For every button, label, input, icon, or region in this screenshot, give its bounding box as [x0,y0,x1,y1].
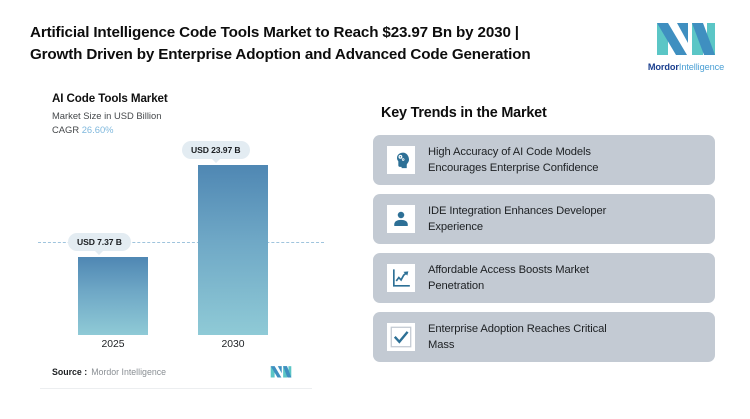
mi-monogram-icon [655,17,717,59]
bar-2030 [198,165,268,335]
trend-card-text: High Accuracy of AI Code Models Encourag… [428,144,598,177]
brand-name-bold: Mordor [648,62,679,72]
x-axis-tick-2025: 2025 [78,339,148,350]
cagr-label: CAGR [52,124,79,135]
trend-card-text: Enterprise Adoption Reaches Critical Mas… [428,321,607,354]
chart-cagr: CAGR 26.60% [52,124,330,135]
trend-text-line-1: High Accuracy of AI Code Models [428,146,591,158]
mordor-intelligence-logo: MordorIntelligence [640,17,732,72]
headline-line-2: Growth Driven by Enterprise Adoption and… [30,44,626,66]
headline-line-1: Artificial Intelligence Code Tools Marke… [30,24,519,41]
trend-card-text: IDE Integration Enhances Developer Exper… [428,203,606,236]
user-icon-svg [391,209,411,229]
trend-card-enterprise-adoption: Enterprise Adoption Reaches Critical Mas… [373,312,715,362]
key-trends-panel: Key Trends in the Market High Accuracy o… [373,105,715,371]
trend-card-ide-integration: IDE Integration Enhances Developer Exper… [373,194,715,244]
trend-card-text: Affordable Access Boosts Market Penetrat… [428,262,589,295]
line-chart-up-icon-svg [391,268,411,288]
panel-divider [40,388,312,389]
line-chart-up-icon [387,264,415,292]
chart-title: AI Code Tools Market [52,92,330,105]
chart-source: Source : Mordor Intelligence [30,364,320,379]
x-axis-tick-2030: 2030 [198,339,268,350]
head-gears-icon-svg [391,150,411,170]
key-trends-heading: Key Trends in the Market [381,105,715,121]
trend-text-line-2: Penetration [428,280,484,292]
trend-text-line-1: Affordable Access Boosts Market [428,264,589,276]
chart-plot-area: USD 7.37 B USD 23.97 B [30,150,330,335]
trend-text-line-1: Enterprise Adoption Reaches Critical [428,323,607,335]
trend-text-line-2: Mass [428,339,454,351]
mi-monogram-small-icon [270,364,292,379]
source-label: Source : [52,367,87,377]
brand-name-light: Intelligence [679,62,724,72]
source-value: Mordor Intelligence [91,367,166,377]
user-icon [387,205,415,233]
chart-x-axis-labels: 2025 2030 [30,339,330,355]
trend-text-line-1: IDE Integration Enhances Developer [428,205,606,217]
head-gears-icon [387,146,415,174]
cagr-value: 26.60% [82,124,114,135]
checkmark-icon-svg [390,326,412,348]
brand-wordmark: MordorIntelligence [648,62,724,72]
market-size-chart-panel: AI Code Tools Market Market Size in USD … [30,92,330,392]
page-header: Artificial Intelligence Code Tools Marke… [0,0,750,88]
checkmark-icon [387,323,415,351]
trend-text-line-2: Encourages Enterprise Confidence [428,162,598,174]
chart-subtitle: Market Size in USD Billion [52,110,330,121]
bar-value-label-2025: USD 7.37 B [68,233,131,251]
trend-text-line-2: Experience [428,221,483,233]
page-title: Artificial Intelligence Code Tools Marke… [30,22,640,65]
trend-card-accuracy: High Accuracy of AI Code Models Encourag… [373,135,715,185]
trend-card-affordable-access: Affordable Access Boosts Market Penetrat… [373,253,715,303]
bar-value-label-2030: USD 23.97 B [182,141,250,159]
bar-2025 [78,257,148,335]
